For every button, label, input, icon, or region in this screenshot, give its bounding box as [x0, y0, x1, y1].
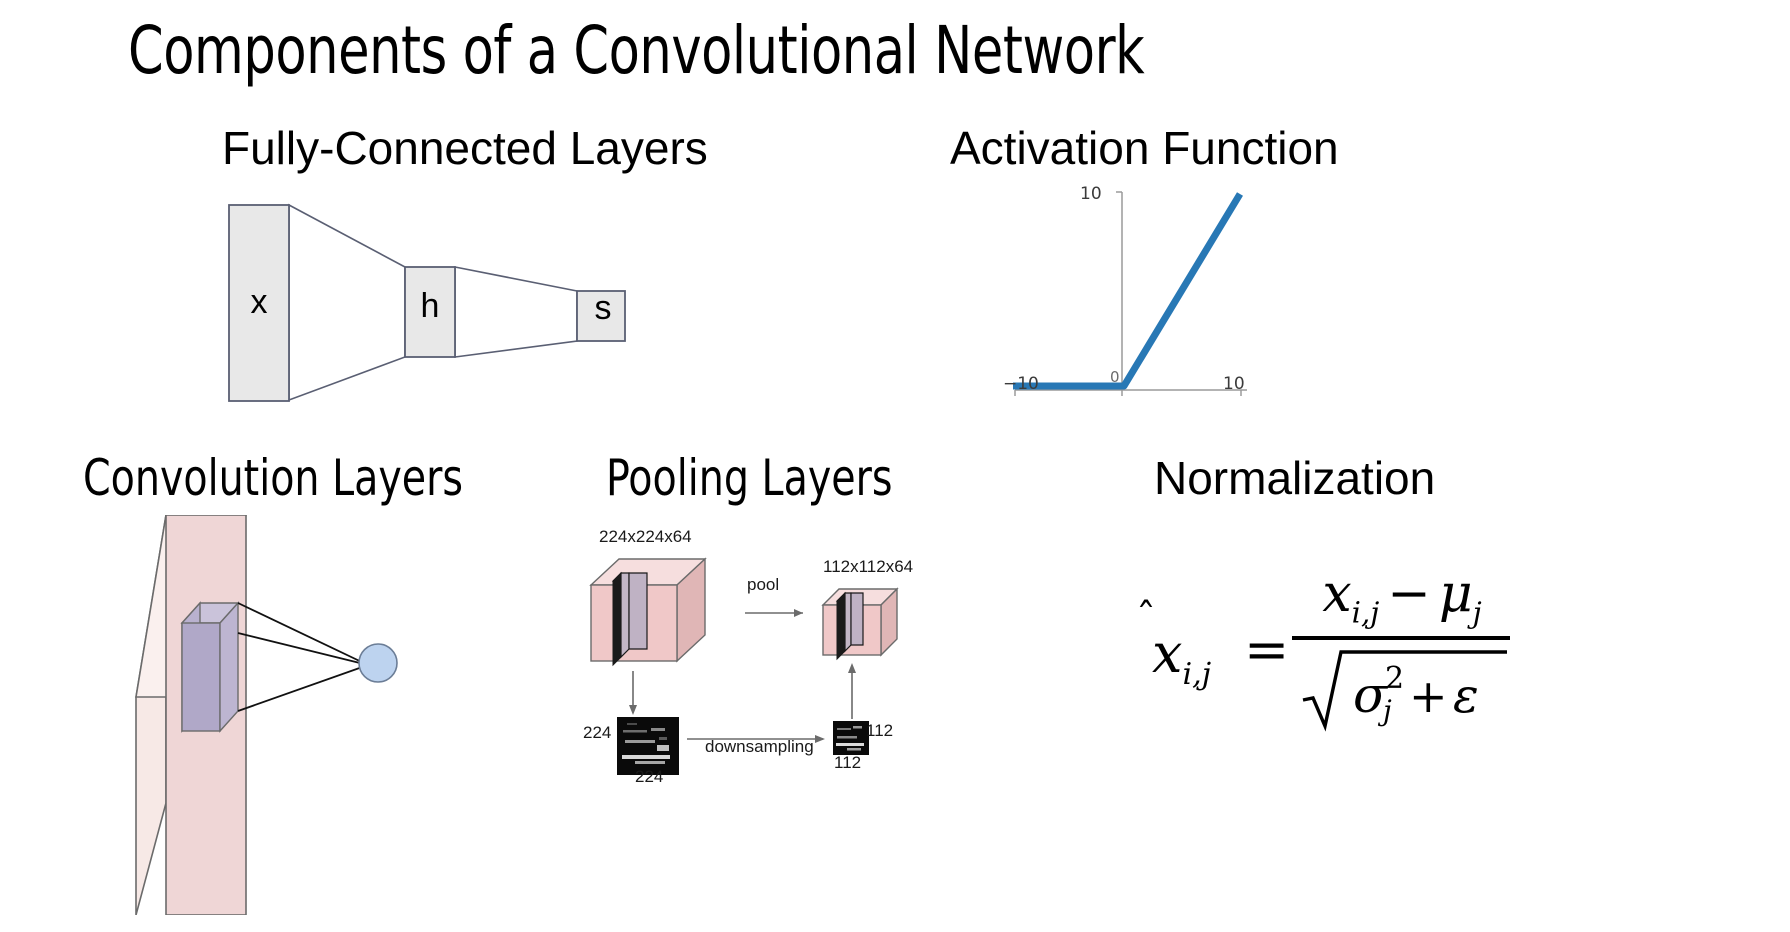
formula-denominator: σ j 2 + ε: [1298, 646, 1512, 743]
pooling-output-dims-label: 112x112x64: [823, 557, 913, 577]
formula-lhs-base: x: [1152, 622, 1182, 685]
formula-numerator: xi,j−μj: [1292, 564, 1512, 629]
section-heading-normalization: Normalization: [1154, 452, 1435, 504]
down-arrow-head: [629, 705, 637, 715]
fc-layer-box-x: [229, 205, 289, 401]
downsampling-arrow-head: [815, 735, 825, 743]
output-slice-depth: [851, 593, 863, 645]
normalization-formula: x̂i,j = xi,j−μj σ j 2 + ε: [1152, 560, 1512, 770]
radicand-sigma-exponent: 2: [1385, 661, 1404, 696]
connector-h-to-s: [455, 267, 577, 357]
slide-canvas: Components of a Convolutional Network Fu…: [0, 0, 1790, 932]
radicand-epsilon: ε: [1453, 668, 1479, 724]
relu-y-tick-label-10: 10: [1080, 184, 1102, 204]
fc-layer-box-s: [577, 291, 625, 341]
numerator-mu-subscript: j: [1473, 595, 1482, 629]
pooling-input-dims-label: 224x224x64: [599, 527, 692, 547]
input-slice-face: [621, 573, 629, 657]
filter-front-face: [182, 623, 220, 731]
formula-equals-sign: =: [1244, 618, 1289, 681]
input-map-height-label: 224: [583, 723, 611, 743]
formula-sqrt-svg: σ j 2 + ε: [1301, 646, 1509, 730]
output-slice-face: [845, 593, 851, 651]
section-heading-convolution-layers: Convolution Layers: [83, 450, 463, 506]
convolution-layers-diagram: [120, 515, 450, 915]
fully-connected-diagram: x h s: [215, 195, 655, 410]
input-map-width-label: 224: [635, 767, 663, 787]
numerator-x-base: x: [1322, 564, 1351, 624]
downsampling-label: downsampling: [705, 737, 814, 757]
pool-arrow-head: [794, 609, 803, 617]
relu-x-tick-label-0: 0: [1110, 368, 1120, 386]
numerator-mu-base: μ: [1439, 564, 1473, 624]
output-neuron-circle: [359, 644, 397, 682]
pooling-svg: [575, 525, 995, 800]
relu-curve: [1013, 194, 1240, 386]
input-slice-edge: [613, 573, 621, 665]
fc-layer-box-h: [405, 267, 455, 357]
section-heading-pooling-layers: Pooling Layers: [606, 450, 892, 506]
numerator-x-subscript: i,j: [1352, 595, 1380, 629]
convolution-svg: [120, 515, 450, 915]
filter-right-face: [220, 603, 238, 731]
output-map-height-label: 112: [866, 721, 893, 741]
output-map-width-label: 112: [834, 753, 861, 773]
formula-lhs-subscript: i,j: [1182, 657, 1211, 692]
numerator-minus-sign: −: [1379, 564, 1439, 624]
formula-lhs: x̂i,j: [1152, 622, 1211, 692]
up-arrow-head: [848, 663, 856, 673]
fully-connected-svg: [215, 195, 655, 410]
activation-function-plot: 10 −10 0 10: [985, 178, 1315, 418]
connection-line-top: [238, 603, 368, 665]
radicand-plus-sign: +: [1409, 669, 1448, 723]
connection-line-bottom: [238, 665, 368, 711]
section-heading-fully-connected: Fully-Connected Layers: [222, 122, 708, 174]
connection-line-middle: [238, 633, 368, 665]
input-slice-depth: [629, 573, 647, 649]
formula-fraction-bar: [1292, 636, 1510, 640]
relu-x-tick-label-neg10: −10: [1003, 374, 1039, 394]
relu-x-tick-label-10: 10: [1223, 374, 1245, 394]
page-title: Components of a Convolutional Network: [128, 12, 1332, 90]
connector-x-to-h: [289, 205, 405, 400]
section-heading-activation-function: Activation Function: [950, 122, 1339, 174]
output-slice-edge: [837, 593, 845, 659]
pooling-operation-label: pool: [747, 575, 779, 595]
pooling-layers-diagram: 224x224x64 112x112x64 pool downsampling …: [575, 525, 995, 800]
